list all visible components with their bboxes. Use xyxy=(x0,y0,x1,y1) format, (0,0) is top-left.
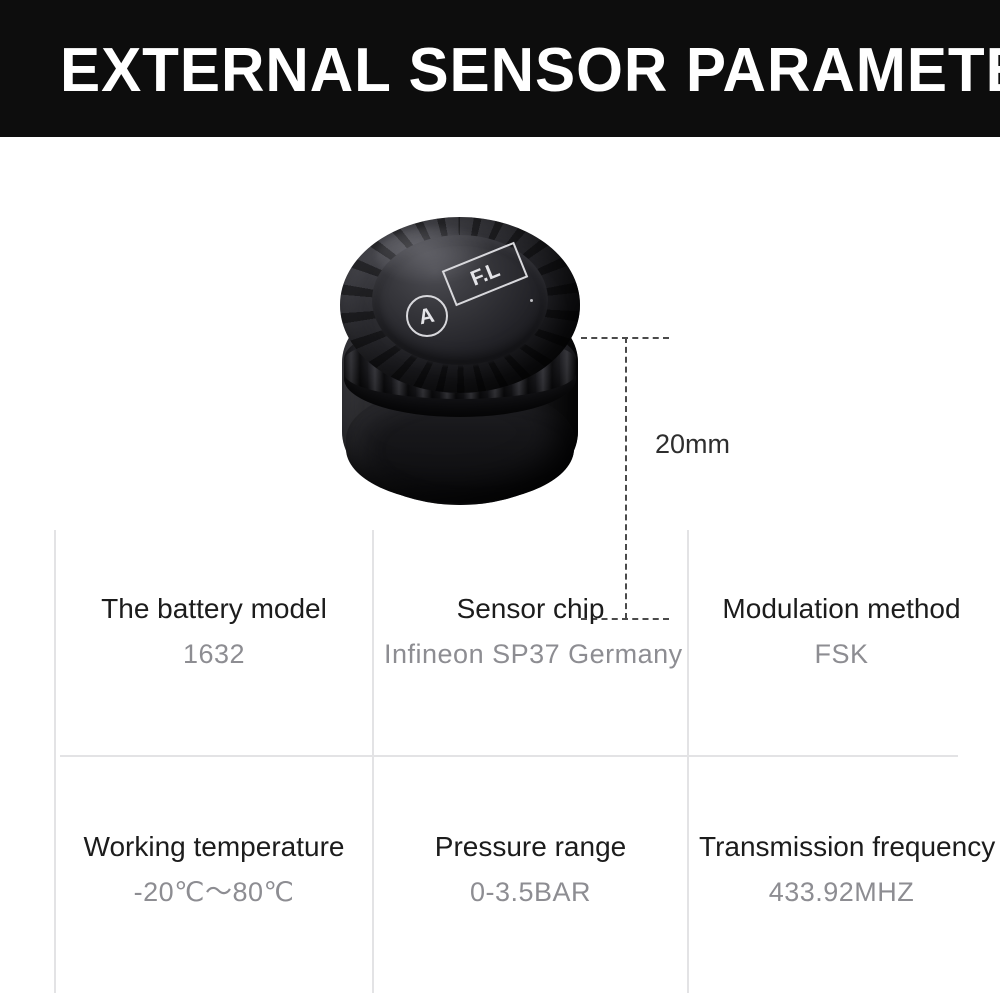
spec-value: -20℃～80℃ xyxy=(66,876,362,909)
spec-cell-working-temperature: Working temperature -20℃～80℃ xyxy=(56,830,372,909)
spec-cell-transmission-frequency: Transmission frequency 433.92MHZ xyxy=(689,830,994,909)
spec-label: Sensor chip xyxy=(384,592,677,626)
spec-value: Infineon SP37 Germany xyxy=(384,638,677,671)
spec-value: 0-3.5BAR xyxy=(384,876,677,909)
product-image-area: F.L A 20mm xyxy=(0,137,1000,522)
spec-cell-battery-model: The battery model 1632 xyxy=(56,592,372,671)
spec-cell-sensor-chip: Sensor chip Infineon SP37 Germany xyxy=(374,592,687,671)
spec-label: Pressure range xyxy=(384,830,677,864)
spec-value: FSK xyxy=(699,638,984,671)
header-banner: EXTERNAL SENSOR PARAMETERS xyxy=(0,0,1000,137)
spec-label: Modulation method xyxy=(699,592,984,626)
spec-value: 1632 xyxy=(66,638,362,671)
spec-label: Working temperature xyxy=(66,830,362,864)
spec-cell-pressure-range: Pressure range 0-3.5BAR xyxy=(374,830,687,909)
position-label-text: F.L xyxy=(468,259,503,289)
spec-label: Transmission frequency xyxy=(699,830,984,864)
sensor-vent-dot-icon xyxy=(530,299,533,302)
spec-label: The battery model xyxy=(66,592,362,626)
group-label-text: A xyxy=(417,304,436,328)
group-label-circle-icon: A xyxy=(406,295,448,337)
dimension-label: 20mm xyxy=(655,428,730,460)
table-divider-horizontal xyxy=(60,755,958,757)
sensor-product-image: F.L A xyxy=(334,217,586,507)
spec-cell-modulation-method: Modulation method FSK xyxy=(689,592,994,671)
page-title: EXTERNAL SENSOR PARAMETERS xyxy=(60,40,933,102)
specification-table: The battery model 1632 Sensor chip Infin… xyxy=(0,522,1000,1000)
product-infographic-page: EXTERNAL SENSOR PARAMETERS F.L A 20mm xyxy=(0,0,1000,1000)
spec-value: 433.92MHZ xyxy=(699,876,984,909)
